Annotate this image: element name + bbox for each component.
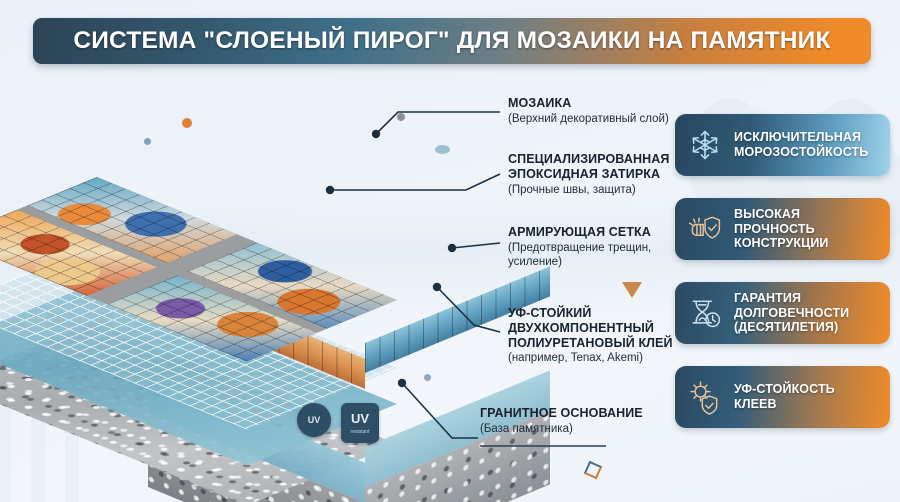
uv-resistant-badge-sub: resistant	[351, 429, 370, 435]
uv-resistant-badge-label: UV	[351, 412, 369, 425]
feature-card-uv-label: УФ-СТОЙКОСТЬ КЛЕЕВ	[734, 382, 835, 411]
feature-card-durability-label: ГАРАНТИЯ ДОЛГОВЕЧНОСТИ (ДЕСЯТИЛЕТИЯ)	[734, 291, 849, 335]
feature-cards: ИСКЛЮЧИТЕЛЬНАЯ МОРОЗОСТОЙКОСТЬ ВЫСОКАЯ П…	[675, 114, 890, 450]
hourglass-clock-icon	[685, 293, 725, 333]
fist-shield-icon	[685, 209, 725, 249]
page-title: СИСТЕМА "СЛОЕНЫЙ ПИРОГ" ДЛЯ МОЗАИКИ НА П…	[33, 18, 871, 64]
layer-stack-illustration: UV UV resistant	[55, 85, 485, 465]
sun-shield-icon	[685, 377, 725, 417]
annotation-mosaic-head: МОЗАИКА	[508, 96, 748, 111]
feature-card-frost[interactable]: ИСКЛЮЧИТЕЛЬНАЯ МОРОЗОСТОЙКОСТЬ	[675, 114, 890, 176]
infographic-canvas: СИСТЕМА "СЛОЕНЫЙ ПИРОГ" ДЛЯ МОЗАИКИ НА П…	[0, 0, 900, 502]
deco-square	[584, 461, 602, 479]
page-title-text: СИСТЕМА "СЛОЕНЫЙ ПИРОГ" ДЛЯ МОЗАИКИ НА П…	[73, 27, 830, 55]
feature-card-durability[interactable]: ГАРАНТИЯ ДОЛГОВЕЧНОСТИ (ДЕСЯТИЛЕТИЯ)	[675, 282, 890, 344]
uv-round-badge: UV	[297, 403, 331, 437]
uv-resistant-badge: UV resistant	[341, 403, 379, 443]
feature-card-frost-label: ИСКЛЮЧИТЕЛЬНАЯ МОРОЗОСТОЙКОСТЬ	[734, 130, 868, 159]
feature-card-strength-label: ВЫСОКАЯ ПРОЧНОСТЬ КОНСТРУКЦИИ	[734, 207, 829, 251]
feature-card-strength[interactable]: ВЫСОКАЯ ПРОЧНОСТЬ КОНСТРУКЦИИ	[675, 198, 890, 260]
deco-triangle	[622, 282, 642, 298]
feature-card-uv[interactable]: УФ-СТОЙКОСТЬ КЛЕЕВ	[675, 366, 890, 428]
uv-round-badge-label: UV	[308, 415, 321, 425]
snowflake-icon	[685, 125, 725, 165]
